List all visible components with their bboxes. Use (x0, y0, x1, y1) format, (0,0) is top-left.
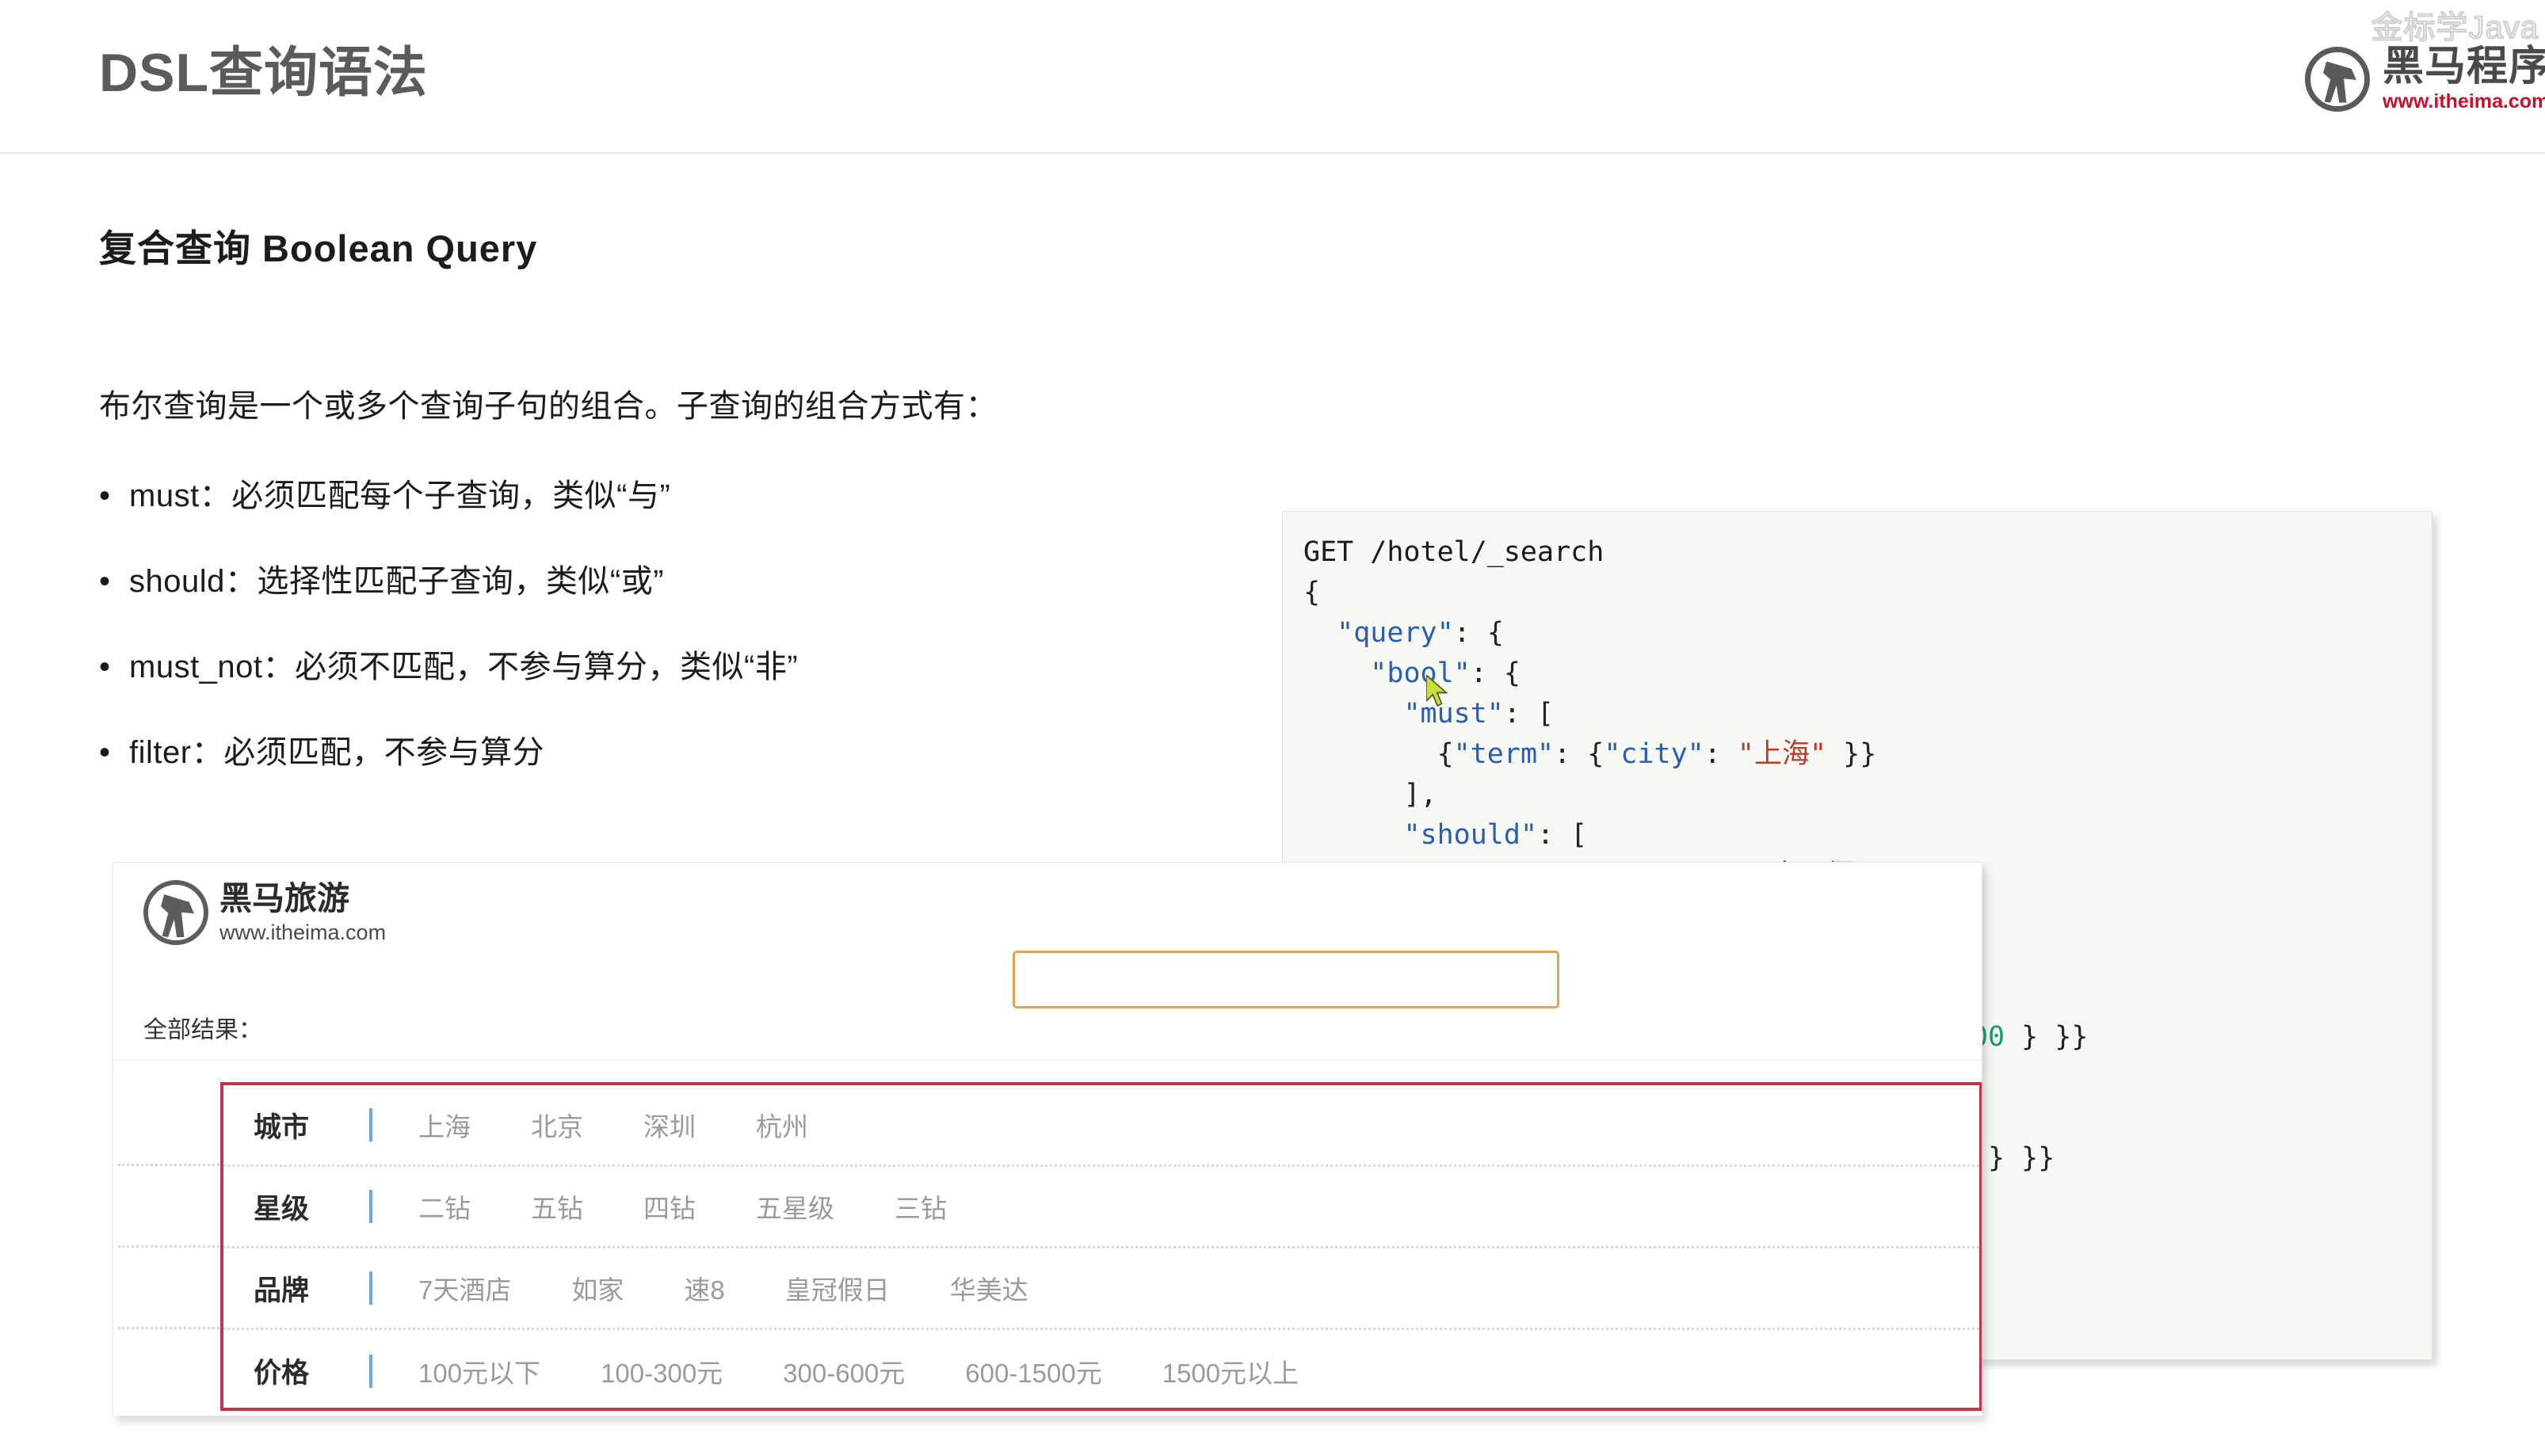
code-token-pun: { (1303, 577, 1320, 608)
code-line: "should": [ (1303, 815, 2432, 856)
code-line: "bool": { (1303, 654, 2432, 694)
bullet-item: •filter：必须匹配，不参与算分 (99, 732, 1303, 773)
code-line: "query": { (1303, 613, 2432, 654)
filter-option[interactable]: 二钻 (418, 1187, 471, 1225)
filter-dotted-rules (113, 1082, 220, 1411)
filter-divider (369, 1271, 372, 1305)
code-line: ], (1303, 775, 2432, 815)
lead-paragraph: 布尔查询是一个或多个查询子句的组合。子查询的组合方式有： (99, 380, 998, 426)
mock-site-logo: 黑马旅游 www.itheima.com (143, 880, 386, 945)
code-token-key: "should" (1403, 819, 1537, 851)
code-token-pun: } }} (1971, 1142, 2055, 1174)
filter-option[interactable]: 五星级 (756, 1187, 834, 1225)
filter-option[interactable]: 速8 (684, 1269, 724, 1307)
brand-url: www.itheima.com (2383, 92, 2545, 112)
section-heading: 复合查询 Boolean Query (99, 218, 537, 273)
horse-head-logo-icon (143, 880, 208, 945)
filter-option[interactable]: 600-1500元 (965, 1352, 1101, 1390)
code-line: "must": [ (1303, 694, 2432, 734)
dotted-rule (118, 1327, 219, 1329)
code-token-str: "上海" (1738, 738, 1826, 770)
bullet-marker-icon: • (99, 475, 129, 516)
code-token-pun: } }} (2005, 1021, 2088, 1053)
filter-divider (369, 1355, 372, 1388)
bullet-marker-icon: • (99, 561, 129, 602)
filter-option[interactable]: 7天酒店 (418, 1269, 511, 1307)
bullet-marker-icon: • (99, 732, 129, 773)
filter-row-label: 星级 (254, 1187, 369, 1227)
filter-option[interactable]: 深圳 (643, 1106, 696, 1144)
filter-option[interactable]: 上海 (418, 1106, 471, 1144)
mock-logo-text: 黑马旅游 www.itheima.com (219, 882, 386, 943)
filter-option[interactable]: 杭州 (756, 1106, 808, 1144)
filter-panel: 城市上海北京深圳杭州星级二钻五钻四钻五星级三钻品牌7天酒店如家速8皇冠假日华美达… (220, 1082, 1982, 1411)
filter-option[interactable]: 五钻 (531, 1187, 583, 1225)
filter-option[interactable]: 华美达 (950, 1269, 1028, 1307)
horse-head-logo-icon (2305, 47, 2370, 112)
filter-option[interactable]: 皇冠假日 (785, 1269, 890, 1307)
code-request-line: GET /hotel/_search (1303, 532, 2432, 573)
code-token-pun: { (1437, 738, 1454, 770)
filter-row-label: 价格 (254, 1351, 369, 1391)
filter-option[interactable]: 四钻 (643, 1187, 696, 1225)
bullet-item: •must：必须匹配每个子查询，类似“与” (99, 475, 1303, 516)
mock-site-name: 黑马旅游 (219, 882, 386, 915)
brand-name: 黑马程序员 (2383, 46, 2545, 87)
code-token-pun: : (1704, 738, 1738, 770)
brand-logo: 黑马程序员 www.itheima.com (2305, 46, 2545, 112)
code-token-pun: : { (1554, 738, 1604, 770)
code-token-pun: : [ (1537, 819, 1587, 851)
brand-logo-text: 黑马程序员 www.itheima.com (2383, 46, 2545, 112)
filter-option[interactable]: 300-600元 (783, 1352, 905, 1390)
bullet-item: •should：选择性匹配子查询，类似“或” (99, 561, 1303, 602)
code-token-pun: : { (1454, 617, 1504, 649)
page-title: DSL查询语法 (99, 46, 428, 100)
code-line: {"term": {"city": "上海" }} (1303, 734, 2432, 775)
filter-row: 城市上海北京深圳杭州 (223, 1085, 1979, 1167)
code-token-pun: }} (1826, 738, 1876, 770)
bullet-marker-icon: • (99, 646, 129, 688)
dotted-rule (118, 1164, 219, 1166)
filter-option[interactable]: 1500元以上 (1162, 1352, 1299, 1390)
all-results-label: 全部结果： (143, 1010, 262, 1045)
code-token-key: "city" (1604, 738, 1704, 770)
watermark-text: 金标学Java (2371, 2, 2539, 48)
code-token-pun: : { (1471, 657, 1521, 689)
slide-header: DSL查询语法 金标学Java 黑马程序员 www.itheima.com (0, 0, 2545, 154)
search-input[interactable] (1013, 951, 1559, 1008)
code-line: { (1303, 573, 2432, 613)
filter-option[interactable]: 100-300元 (601, 1352, 723, 1390)
code-token-pun: ], (1403, 779, 1437, 810)
code-token-key: "term" (1454, 738, 1554, 770)
bullet-item-label: must：必须匹配每个子查询，类似“与” (129, 475, 670, 516)
bullet-item-label: should：选择性匹配子查询，类似“或” (129, 561, 664, 602)
mock-topbar: 黑马旅游 www.itheima.com 全部结果： (113, 863, 1982, 1061)
filter-divider (369, 1190, 372, 1223)
bullet-item: •must_not：必须不匹配，不参与算分，类似“非” (99, 646, 1303, 688)
filter-option[interactable]: 三钻 (895, 1187, 947, 1225)
code-token-key: "query" (1337, 617, 1454, 649)
code-token-key: "must" (1403, 698, 1503, 730)
code-token-key: "bool" (1370, 657, 1470, 689)
filter-row: 价格100元以下100-300元300-600元600-1500元1500元以上 (223, 1330, 1979, 1412)
hotel-search-screenshot: 黑马旅游 www.itheima.com 全部结果： 城市上海北京深圳杭州星级二… (113, 862, 1982, 1416)
filter-option[interactable]: 100元以下 (418, 1352, 540, 1390)
filter-row: 品牌7天酒店如家速8皇冠假日华美达 (223, 1248, 1979, 1330)
filter-row: 星级二钻五钻四钻五星级三钻 (223, 1167, 1979, 1248)
filter-option[interactable]: 北京 (531, 1106, 583, 1144)
dotted-rule (118, 1245, 219, 1248)
bullet-item-label: must_not：必须不匹配，不参与算分，类似“非” (129, 646, 798, 688)
code-token-pun: : [ (1504, 698, 1554, 730)
bullet-list: •must：必须匹配每个子查询，类似“与”•should：选择性匹配子查询，类似… (99, 475, 1303, 818)
bullet-item-label: filter：必须匹配，不参与算分 (129, 732, 544, 773)
filter-divider (369, 1108, 372, 1142)
filter-option[interactable]: 如家 (571, 1269, 624, 1307)
mock-site-url: www.itheima.com (219, 922, 386, 943)
filter-row-label: 城市 (254, 1105, 369, 1145)
filter-row-label: 品牌 (254, 1268, 369, 1309)
